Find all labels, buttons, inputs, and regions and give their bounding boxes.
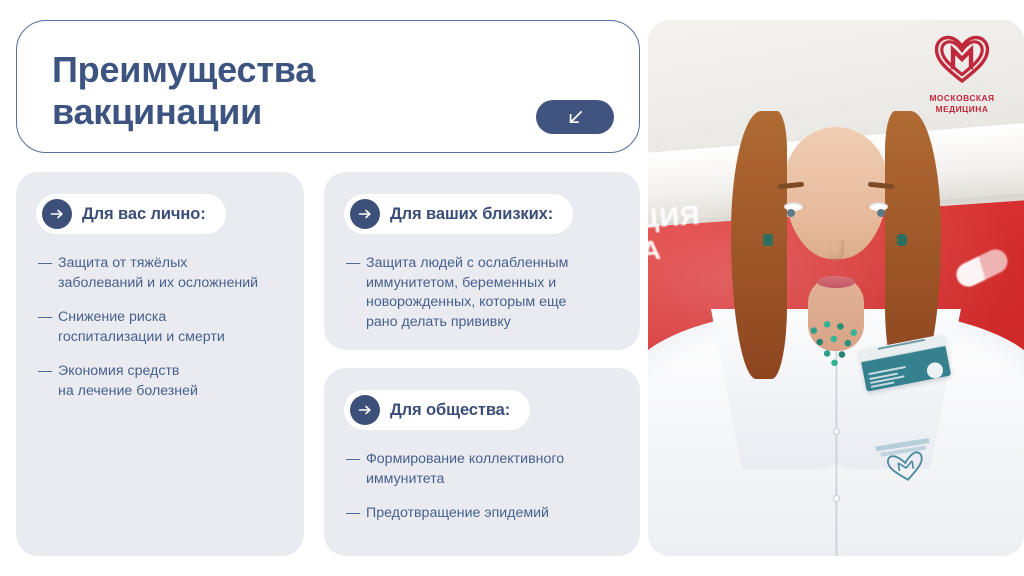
- iris-left: [787, 209, 795, 217]
- card-badge-label-family: Для ваших близких:: [390, 205, 553, 224]
- arrow-right-circle-icon: [42, 199, 72, 229]
- list-item: — Снижение риска госпитализации и смерти: [38, 308, 294, 347]
- bullet-dash: —: [38, 308, 52, 328]
- brand-name-line-2: МЕДИЦИНА: [918, 104, 1006, 115]
- photo-scene: ЦИЯ А: [648, 20, 1024, 556]
- left-content-column: Преимущества вакцинации: [0, 0, 648, 576]
- page-title: Преимущества вакцинации: [52, 49, 512, 134]
- mouth: [817, 276, 855, 288]
- bullet-dash: —: [38, 362, 52, 382]
- arrow-down-left-button[interactable]: [536, 100, 614, 134]
- hair-front-left: [731, 111, 787, 379]
- benefit-card-personal: Для вас лично: — Защита от тяжёлых забол…: [16, 172, 304, 556]
- bullet-text: Формирование коллективного иммунитета: [366, 450, 628, 489]
- bullet-text: Экономия средств на лечение болезней: [58, 362, 294, 401]
- benefit-card-society: Для общества: — Формирование коллективно…: [324, 368, 640, 556]
- page-title-line-1: Преимущества: [52, 49, 512, 91]
- list-item: — Предотвращение эпидемий: [346, 504, 628, 524]
- slide-root: Преимущества вакцинации: [0, 0, 1024, 576]
- card-badge-label-society: Для общества:: [390, 401, 510, 420]
- nose: [828, 240, 844, 262]
- benefit-list-personal: — Защита от тяжёлых заболеваний и их осл…: [38, 254, 294, 402]
- bullet-text: Снижение риска госпитализации и смерти: [58, 308, 294, 347]
- bullet-text: Защита от тяжёлых заболеваний и их ослож…: [58, 254, 294, 293]
- doctor-photo: ЦИЯ А: [648, 20, 1024, 556]
- heart-m-logo-icon: [918, 34, 1006, 89]
- title-card: Преимущества вакцинации: [16, 20, 640, 153]
- id-badge-seal-icon: [926, 360, 945, 379]
- coat-button: [832, 428, 839, 435]
- bullet-dash: —: [346, 504, 360, 524]
- card-badge-family: Для ваших близких:: [344, 194, 573, 234]
- card-badge-personal: Для вас лично:: [36, 194, 226, 234]
- iris-right: [877, 209, 885, 217]
- arrow-right-circle-icon: [350, 199, 380, 229]
- bullet-text: Предотвращение эпидемий: [366, 504, 628, 524]
- list-item: — Защита от тяжёлых заболеваний и их осл…: [38, 254, 294, 293]
- card-badge-society: Для общества:: [344, 390, 530, 430]
- coat-button: [832, 495, 839, 502]
- card-badge-label-personal: Для вас лично:: [82, 205, 206, 224]
- arrow-right-circle-icon: [350, 395, 380, 425]
- benefit-list-society: — Формирование коллективного иммунитета …: [346, 450, 628, 524]
- brand-name-line-1: МОСКОВСКАЯ: [918, 93, 1006, 104]
- page-title-line-2: вакцинации: [52, 91, 512, 133]
- benefit-card-family: Для ваших близких: — Защита людей с осла…: [324, 172, 640, 350]
- bullet-text: Защита людей с ослабленным иммунитетом, …: [366, 254, 624, 332]
- list-item: — Экономия средств на лечение болезней: [38, 362, 294, 401]
- benefit-list-family: — Защита людей с ослабленным иммунитетом…: [346, 254, 624, 332]
- brand-name: МОСКОВСКАЯ МЕДИЦИНА: [918, 93, 1006, 115]
- bullet-dash: —: [346, 450, 360, 470]
- list-item: — Защита людей с ослабленным иммунитетом…: [346, 254, 624, 332]
- bullet-dash: —: [38, 254, 52, 274]
- earring-left: [763, 234, 773, 246]
- arrow-down-left-icon: [567, 109, 584, 126]
- coat-embroidered-logo-icon: [870, 434, 938, 489]
- brand-logo: МОСКОВСКАЯ МЕДИЦИНА: [918, 34, 1006, 115]
- list-item: — Формирование коллективного иммунитета: [346, 450, 628, 489]
- earring-right: [897, 234, 907, 246]
- bullet-dash: —: [346, 254, 360, 274]
